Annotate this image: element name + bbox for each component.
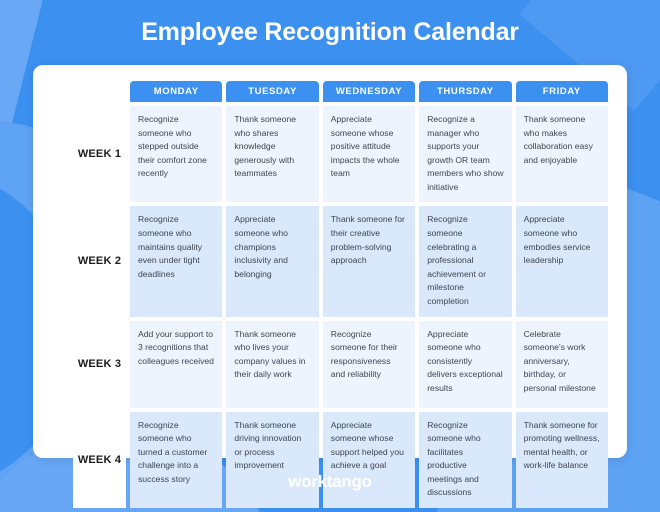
calendar-cell: Appreciate someone who embodies service … — [516, 206, 608, 316]
calendar-cell: Thank someone who makes collaboration ea… — [516, 106, 608, 202]
calendar-cell: Appreciate someone who champions inclusi… — [226, 206, 318, 316]
calendar-cell: Recognize someone who stepped outside th… — [130, 106, 222, 202]
page-title: Employee Recognition Calendar — [0, 18, 660, 47]
calendar-cell: Add your support to 3 recognitions that … — [130, 321, 222, 408]
calendar-cell: Thank someone who shares knowledge gener… — [226, 106, 318, 202]
day-header-friday: FRIDAY — [516, 81, 608, 102]
calendar-cell: Appreciate someone whose positive attitu… — [323, 106, 415, 202]
day-header-tuesday: TUESDAY — [226, 81, 318, 102]
calendar-cell: Thank someone for promoting wellness, me… — [516, 412, 608, 508]
day-header-thursday: THURSDAY — [419, 81, 511, 102]
week-label-1: WEEK 1 — [73, 106, 126, 202]
calendar-card: MONDAYTUESDAYWEDNESDAYTHURSDAYFRIDAYWEEK… — [33, 65, 627, 458]
week-label-2: WEEK 2 — [73, 206, 126, 316]
calendar-cell: Appreciate someone who consistently deli… — [419, 321, 511, 408]
calendar-cell: Recognize someone who facilitates produc… — [419, 412, 511, 508]
day-header-monday: MONDAY — [130, 81, 222, 102]
calendar-cell: Recognize someone celebrating a professi… — [419, 206, 511, 316]
week-label-3: WEEK 3 — [73, 321, 126, 408]
calendar-cell: Thank someone driving innovation or proc… — [226, 412, 318, 508]
calendar-cell: Recognize someone who turned a customer … — [130, 412, 222, 508]
calendar-cell: Thank someone for their creative problem… — [323, 206, 415, 316]
calendar-cell: Appreciate someone whose support helped … — [323, 412, 415, 508]
calendar-cell: Recognize someone for their responsivene… — [323, 321, 415, 408]
calendar-cell: Thank someone who lives your company val… — [226, 321, 318, 408]
calendar-grid: MONDAYTUESDAYWEDNESDAYTHURSDAYFRIDAYWEEK… — [73, 81, 608, 508]
day-header-wednesday: WEDNESDAY — [323, 81, 415, 102]
calendar-cell: Recognize someone who maintains quality … — [130, 206, 222, 316]
poster-canvas: Employee Recognition Calendar MONDAYTUES… — [0, 0, 660, 512]
brand-logo: worktango — [0, 472, 660, 492]
grid-corner-blank — [73, 81, 126, 102]
calendar-cell: Celebrate someone's work anniversary, bi… — [516, 321, 608, 408]
week-label-4: WEEK 4 — [73, 412, 126, 508]
calendar-cell: Recognize a manager who supports your gr… — [419, 106, 511, 202]
